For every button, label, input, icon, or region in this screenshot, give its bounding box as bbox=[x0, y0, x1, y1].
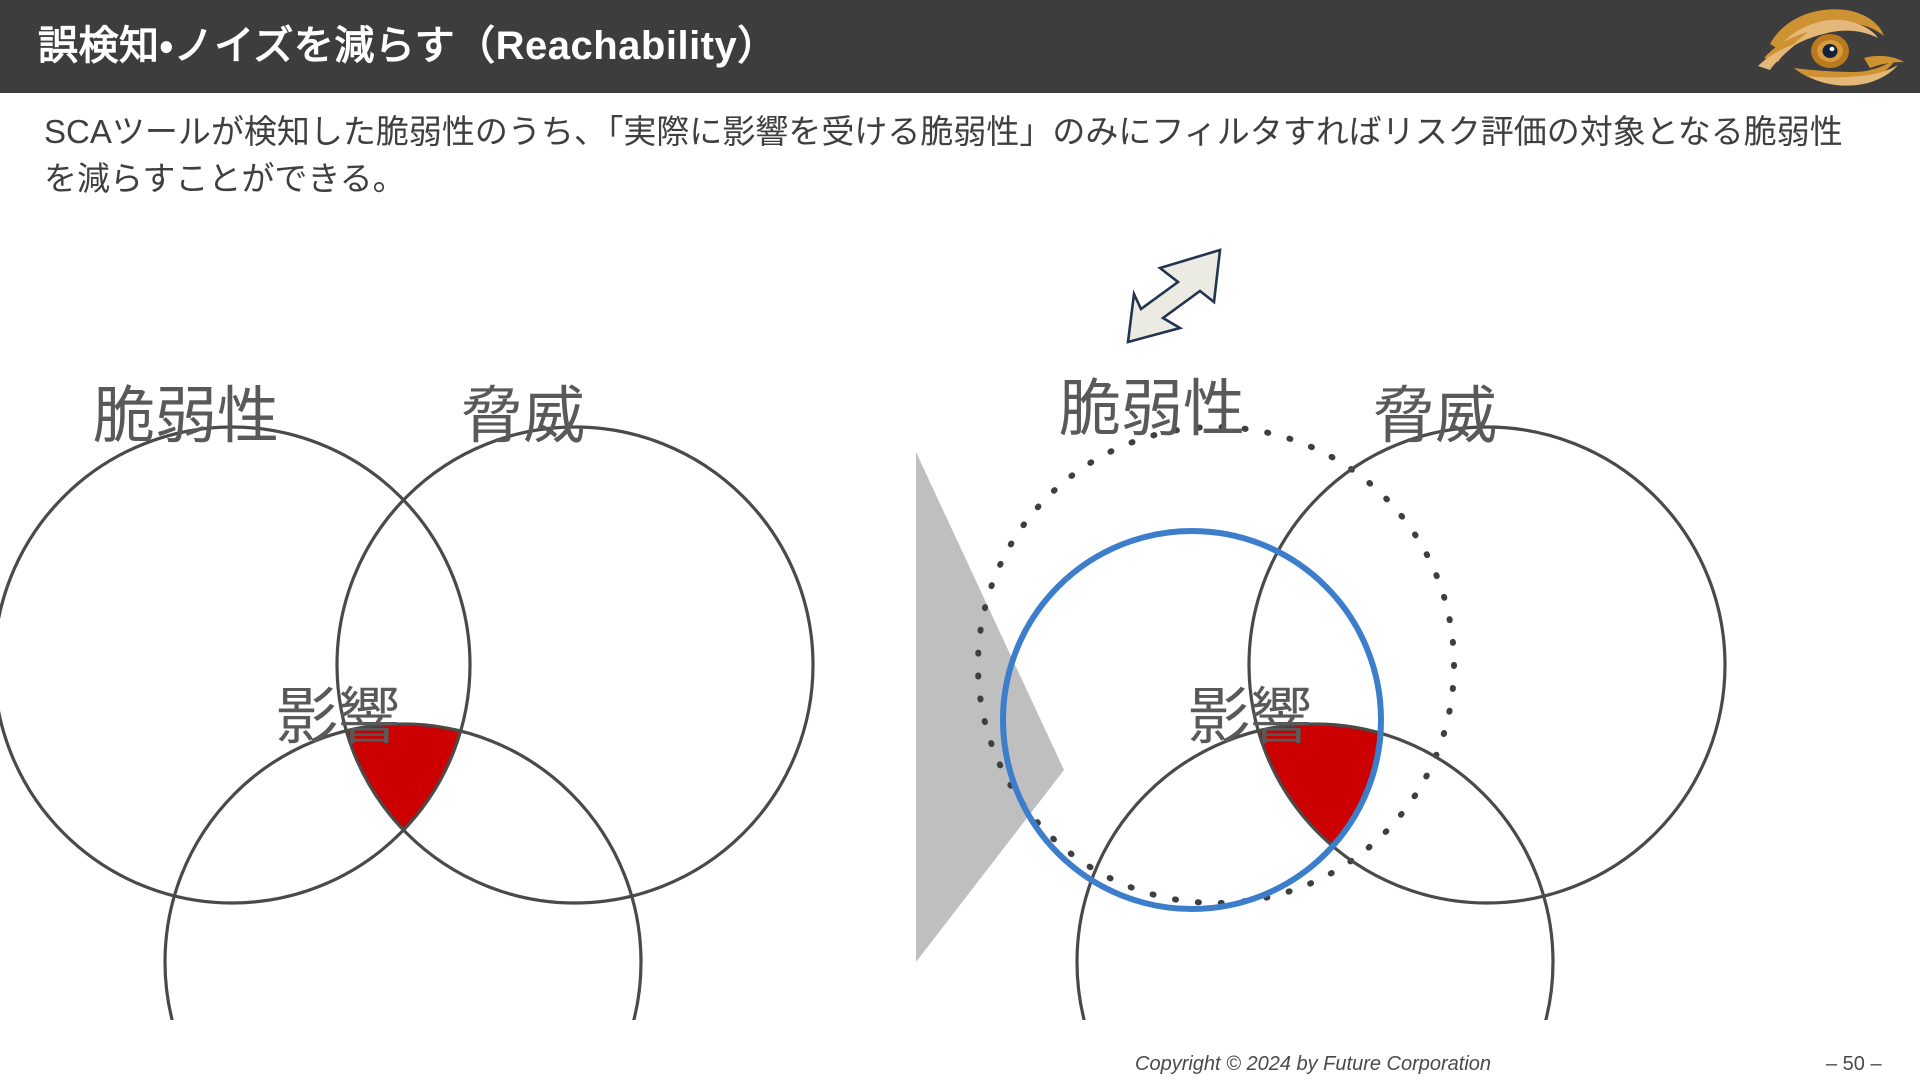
slide-root: 誤検知・ノイズを減らす（Reachability） SCAツ bbox=[0, 0, 1920, 1080]
footer-copyright: Copyright © 2024 by Future Corporation bbox=[1135, 1053, 1491, 1076]
future-eye-logo-icon bbox=[1754, 4, 1904, 88]
label-vulnerability-after: 脆弱性 bbox=[1059, 375, 1245, 444]
lead-line-1: SCAツールが検知した脆弱性のうち、「実際に影響を受ける脆弱性」のみにフィルタす… bbox=[44, 113, 1547, 150]
label-vulnerability-before: 脆弱性 bbox=[93, 382, 279, 451]
label-impact-after: 影響 bbox=[1188, 683, 1312, 752]
label-threat-after: 脅威 bbox=[1373, 382, 1497, 451]
footer-page-number: – 50 – bbox=[1826, 1053, 1882, 1076]
big-right-arrow-icon bbox=[916, 452, 1064, 962]
venn-diagram-svg: 脆弱性 脅威 影響 bbox=[0, 190, 1920, 1020]
label-impact-before: 影響 bbox=[276, 683, 400, 752]
lead-paragraph: SCAツールが検知した脆弱性のうち、「実際に影響を受ける脆弱性」のみにフィルタす… bbox=[44, 108, 1874, 202]
circle-vulnerability-before bbox=[0, 427, 470, 903]
label-threat-before: 脅威 bbox=[461, 382, 585, 451]
shrink-arrow-icon bbox=[1128, 250, 1220, 342]
page-title: 誤検知・ノイズを減らす（Reachability） bbox=[38, 16, 778, 76]
circle-threat-before bbox=[337, 427, 813, 903]
venn-diagram-area: 脆弱性 脅威 影響 bbox=[0, 190, 1920, 1020]
circle-vulnerability-original-after bbox=[978, 427, 1454, 903]
title-bar: 誤検知・ノイズを減らす（Reachability） bbox=[0, 0, 1920, 93]
